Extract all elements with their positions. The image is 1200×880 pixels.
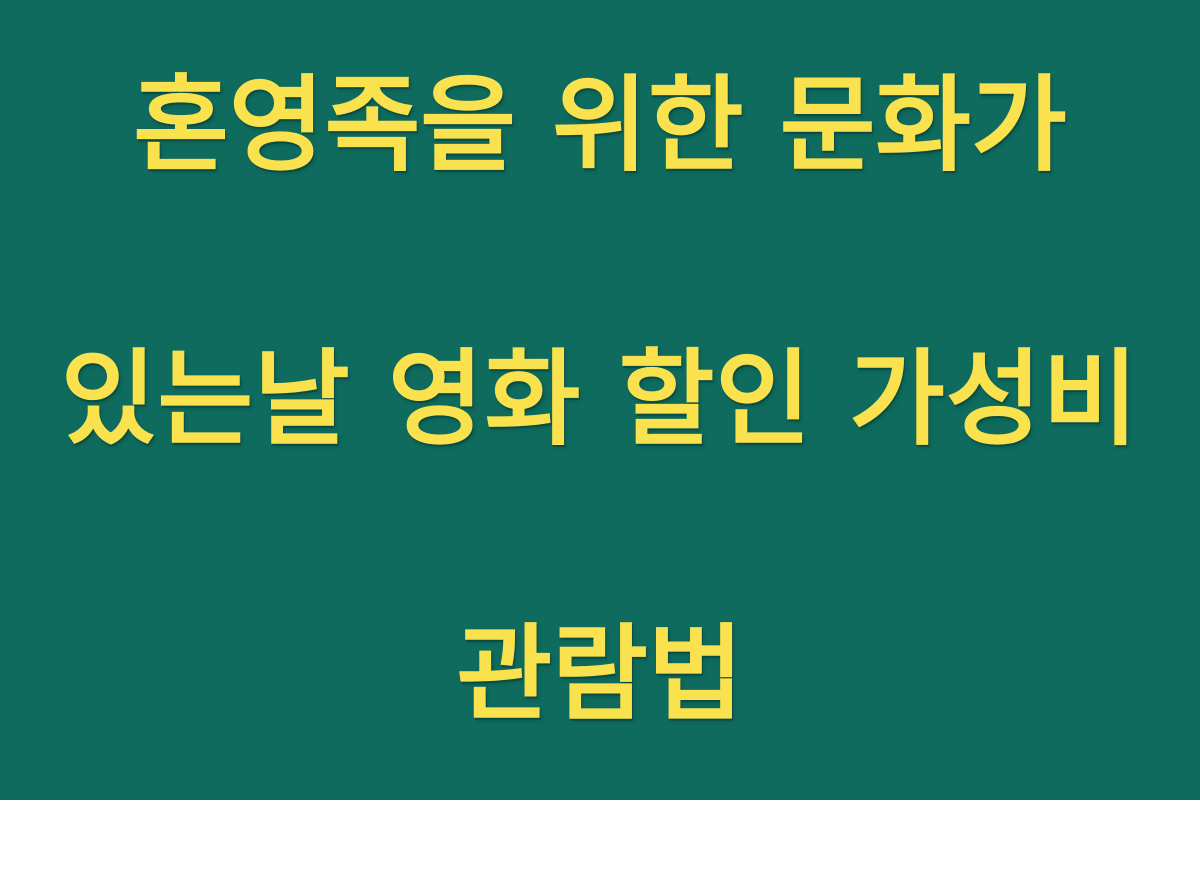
headline-line-1: 혼영족을 위한 문화가: [20, 57, 1180, 194]
headline-line-2: 있는날 영화 할인 가성비: [20, 331, 1180, 468]
headline: 혼영족을 위한 문화가 있는날 영화 할인 가성비 관람법: [20, 0, 1180, 880]
banner-canvas: 혼영족을 위한 문화가 있는날 영화 할인 가성비 관람법: [0, 0, 1200, 800]
headline-line-3: 관람법: [20, 606, 1180, 743]
